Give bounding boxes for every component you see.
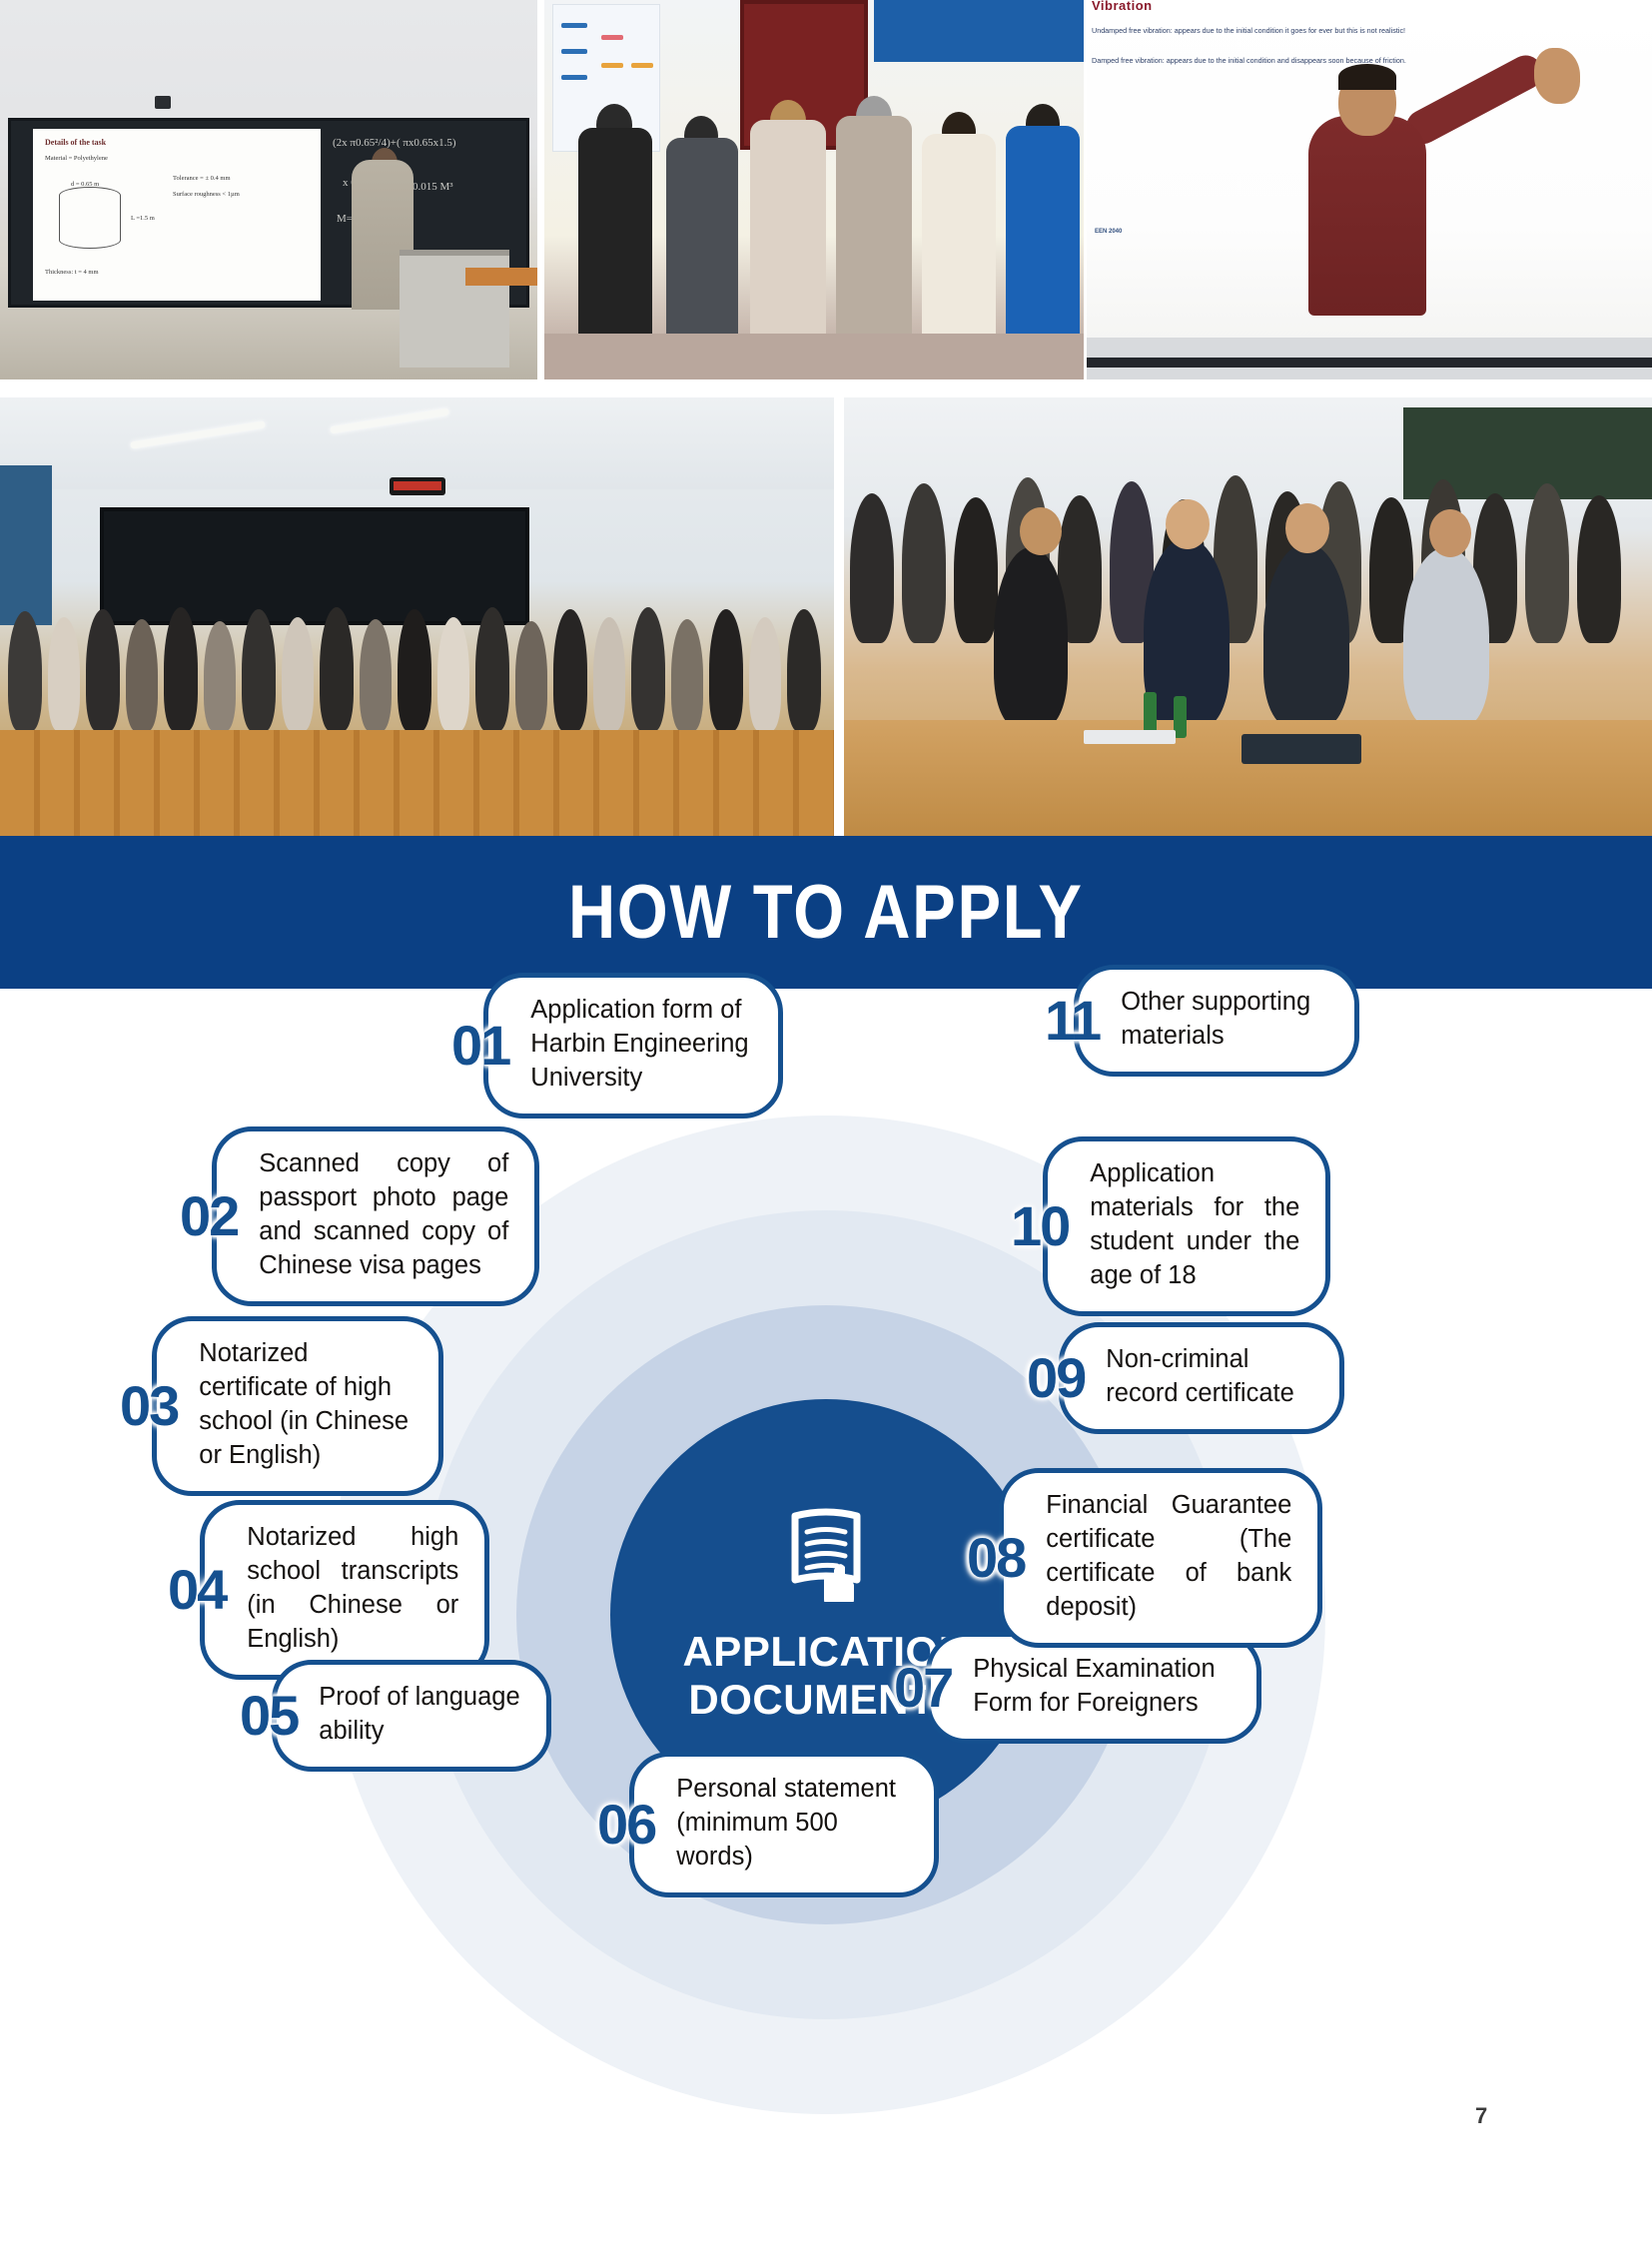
photo-group-six-people [544,0,1084,379]
item-number-06: 06 [597,1797,655,1853]
slide-line-material: Material = Polyethylene [45,155,108,162]
photo-lecturer-vibration: Vibration Undamped free vibration: appea… [1087,0,1652,379]
page-number: 7 [1475,2103,1487,2129]
slide-title: Vibration [1092,0,1153,13]
item-label-05: Proof of language ability [272,1660,551,1772]
laptop [1084,730,1176,744]
led-display [390,477,445,495]
document-item-04[interactable]: 04 Notarized high school transcripts (in… [168,1500,489,1680]
item-label-01: Application form of Harbin Engineering U… [483,973,783,1119]
item-label-07: Physical Examination Form for Foreigners [926,1632,1261,1744]
item-number-03: 03 [120,1378,178,1434]
window-curtain [0,465,52,625]
item-label-04: Notarized high school transcripts (in Ch… [200,1500,489,1680]
document-item-10[interactable]: 10 Application materials for the student… [1011,1136,1330,1316]
item-label-06: Personal statement (minimum 500 words) [629,1752,939,1897]
person-body [1308,116,1426,316]
document-item-01[interactable]: 01 Application form of Harbin Engineerin… [451,973,783,1119]
person-hair [1338,64,1396,90]
person-6-body [1006,126,1080,334]
section-banner: HOW TO APPLY [0,836,1652,989]
item-label-08: Financial Guarantee certificate (The cer… [999,1468,1322,1648]
photo-lecture-slide-tank: Details of the task Material = Polyethyl… [0,0,537,379]
item-label-09: Non-criminal record certificate [1059,1322,1344,1434]
wall-banner [874,0,1084,62]
slide-line-thickness: Thickness: t = 4 mm [45,269,99,276]
photo-collage: Details of the task Material = Polyethyl… [0,0,1652,836]
document-item-09[interactable]: 09 Non-criminal record certificate [1027,1322,1344,1434]
camera-icon [155,96,171,109]
document-item-02[interactable]: 02 Scanned copy of passport photo page a… [180,1126,539,1306]
slide-course-code: EEN 2040 [1095,229,1122,235]
item-number-05: 05 [240,1688,298,1744]
floor [544,334,1084,379]
person-hand [1534,48,1580,104]
folder [1241,734,1361,764]
slide-title: Details of the task [45,138,106,147]
document-item-07[interactable]: 07 Physical Examination Form for Foreign… [894,1632,1261,1744]
application-documents-infographic: APPLICATION DOCUMENTS 01 Application for… [0,989,1652,2241]
item-label-10: Application materials for the student un… [1043,1136,1330,1316]
slide-line-roughness: Surface roughness < 1µm [173,191,240,198]
cylinder-diagram [59,187,121,249]
slide-line-length: L =1.5 m [131,215,155,222]
item-number-07: 07 [894,1660,952,1716]
page-title: HOW TO APPLY [568,869,1084,956]
wood-desk [465,268,537,286]
item-number-11: 11 [1045,993,1100,1049]
document-item-11[interactable]: 11 Other supporting materials [1045,965,1359,1077]
document-hand-icon [783,1506,869,1602]
screen-edge [1087,358,1652,368]
photo-classroom-large-group [0,397,834,836]
slide-line-undamped: Undamped free vibration: appears due to … [1092,26,1647,35]
item-number-08: 08 [967,1530,1025,1586]
wooden-benches [0,730,834,836]
slide-line-tolerance: Tolerance = ± 0.4 mm [173,175,231,182]
brochure-page: Details of the task Material = Polyethyl… [0,0,1652,2241]
item-label-02: Scanned copy of passport photo page and … [212,1126,539,1306]
photo-lecture-hall-professors [844,397,1652,836]
water-bottle-1 [1144,692,1157,734]
person-5-body [922,134,996,334]
projected-slide: Details of the task Material = Polyethyl… [33,129,321,301]
item-number-10: 10 [1011,1198,1069,1254]
chalk-formula-1: (2x π0.65²/4)+( πx0.65x1.5) [333,137,456,149]
document-item-03[interactable]: 03 Notarized certificate of high school … [120,1316,443,1496]
document-item-06[interactable]: 06 Personal statement (minimum 500 words… [597,1752,939,1897]
item-number-01: 01 [451,1018,509,1074]
person-4-body [836,116,912,334]
item-label-11: Other supporting materials [1074,965,1359,1077]
item-number-02: 02 [180,1188,238,1244]
item-label-03: Notarized certificate of high school (in… [152,1316,443,1496]
item-number-09: 09 [1027,1350,1085,1406]
ceiling [0,397,834,489]
person-3-body [750,120,826,334]
person-2-body [666,138,738,334]
item-number-04: 04 [168,1562,226,1618]
chalk-formula-3: 0.015 M³ [413,181,453,193]
document-item-05[interactable]: 05 Proof of language ability [240,1660,551,1772]
document-item-08[interactable]: 08 Financial Guarantee certificate (The … [967,1468,1322,1648]
person-1-body [578,128,652,334]
